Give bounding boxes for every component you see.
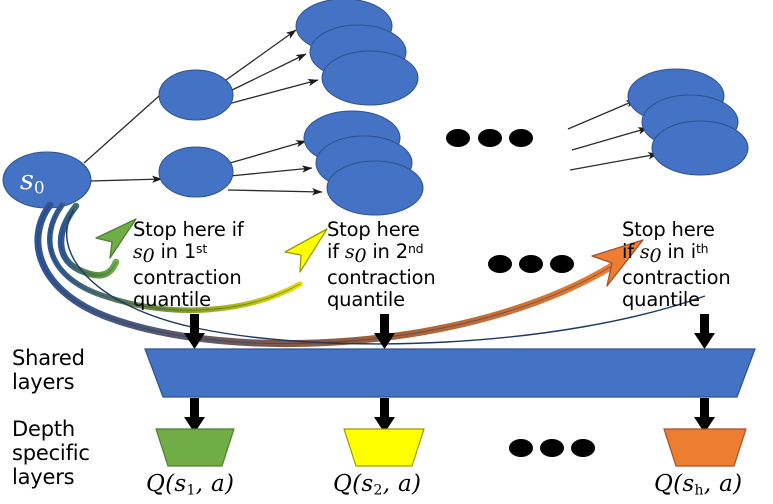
output-label-q2: Q(s2, a) xyxy=(333,472,421,499)
output-label-q1: Q(s1, a) xyxy=(146,472,234,499)
depth-layer-input-arrows xyxy=(184,398,715,433)
input-arrow-3 xyxy=(694,314,715,349)
depth-layer-orange[interactable] xyxy=(664,429,746,466)
depth-arrow-2 xyxy=(374,398,395,433)
stop-label-1: Stop here if s0 in 1st contraction quant… xyxy=(133,219,244,311)
depth-ellipsis-dots xyxy=(509,439,595,457)
tree-node-level1 xyxy=(159,70,233,197)
shared-layers-block[interactable] xyxy=(145,349,755,397)
shared-layers-label: Shared layers xyxy=(12,347,85,395)
stop-label-1-line4: quantile xyxy=(133,289,244,311)
depth-arrow-3 xyxy=(694,398,715,433)
tree-node-root xyxy=(3,152,91,208)
stop-label-2-line2: if s0 in 2nd xyxy=(327,241,436,267)
depth-layer-green[interactable] xyxy=(156,429,234,466)
stop-label-2-line1: Stop here xyxy=(327,219,436,241)
stop-label-1-line3: contraction xyxy=(133,267,244,289)
tree-node-group-top xyxy=(296,0,418,105)
branch-curve-1 xyxy=(61,206,136,275)
shared-layers-label-line2: layers xyxy=(12,371,85,395)
tree-edges-root xyxy=(84,88,168,181)
stop-label-3: Stop here if s0 in ith contraction quant… xyxy=(622,219,731,311)
diagram-canvas: s0 Stop here if s0 in 1st contraction qu… xyxy=(0,0,773,504)
tree-node-group-right xyxy=(628,69,748,175)
stop-label-2: Stop here if s0 in 2nd contraction quant… xyxy=(327,219,436,311)
stop-label-2-line3: contraction xyxy=(327,267,436,289)
stop-label-3-line4: quantile xyxy=(622,289,731,311)
depth-layer-yellow[interactable] xyxy=(344,429,424,466)
shared-layers-label-line1: Shared xyxy=(12,347,85,371)
depth-specific-layers-label: Depth specific layers xyxy=(12,418,90,490)
stop-label-3-line1: Stop here xyxy=(622,219,731,241)
depth-arrow-1 xyxy=(184,398,205,433)
root-node-label: s0 xyxy=(20,165,45,198)
depth-label-line2: specific xyxy=(12,442,90,466)
tree-ellipsis-dots xyxy=(446,129,533,147)
stop-label-1-line1: Stop here if xyxy=(133,219,244,241)
input-arrow-1 xyxy=(184,314,205,349)
output-label-qh: Q(sh, a) xyxy=(654,472,742,499)
depth-label-line3: layers xyxy=(12,466,90,490)
stop-label-1-line2: s0 in 1st xyxy=(133,241,244,267)
stop-label-ellipsis-dots xyxy=(488,255,574,273)
stop-label-2-line4: quantile xyxy=(327,289,436,311)
tree-node-group-bottom xyxy=(304,111,423,215)
stop-label-3-line3: contraction xyxy=(622,267,731,289)
depth-label-line1: Depth xyxy=(12,418,90,442)
stop-label-3-line2: if s0 in ith xyxy=(622,241,731,267)
